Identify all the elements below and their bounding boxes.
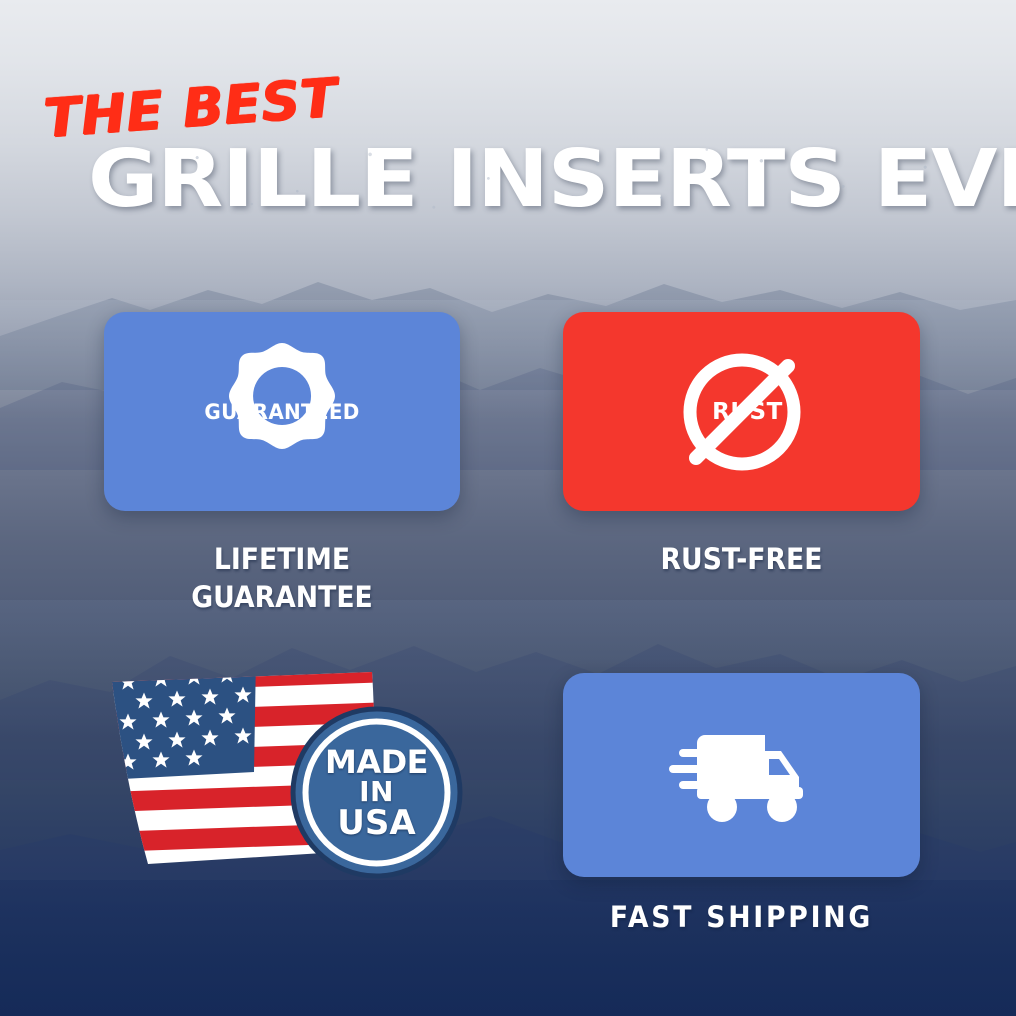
- badge-line-made: MADE: [289, 746, 464, 778]
- made-in-usa-label: MADE IN USA: [289, 746, 464, 840]
- feature-card-fast-shipping[interactable]: [563, 673, 920, 877]
- badge-line-in: IN: [289, 778, 464, 806]
- feature-caption-fast-shipping: FAST SHIPPING: [577, 898, 905, 936]
- feature-card-lifetime-guarantee[interactable]: GUARANTEED: [104, 312, 460, 511]
- guarantee-seal-label: GUARANTEED: [113, 400, 451, 424]
- page-title: GRILLE INSERTS EVER!: [88, 140, 1016, 219]
- caption-line: GUARANTEE: [118, 578, 446, 616]
- badge-line-usa: USA: [289, 806, 464, 840]
- feature-made-in-usa[interactable]: MADE IN USA: [104, 668, 474, 883]
- caption-line: RUST-FREE: [577, 540, 905, 578]
- made-in-usa-medallion[interactable]: MADE IN USA: [289, 705, 464, 880]
- feature-caption-lifetime-guarantee: LIFETIME GUARANTEE: [118, 540, 446, 617]
- feature-caption-rust-free: RUST-FREE: [577, 540, 905, 578]
- caption-line: LIFETIME: [118, 540, 446, 578]
- feature-card-rust-free[interactable]: RUST: [563, 312, 920, 511]
- caption-line: FAST SHIPPING: [577, 898, 905, 936]
- delivery-truck-icon: [563, 673, 920, 877]
- promo-graphic: THE BEST GRILLE INSERTS EVER! GUARANTEED…: [0, 0, 1016, 1016]
- no-rust-label: RUST: [569, 399, 926, 425]
